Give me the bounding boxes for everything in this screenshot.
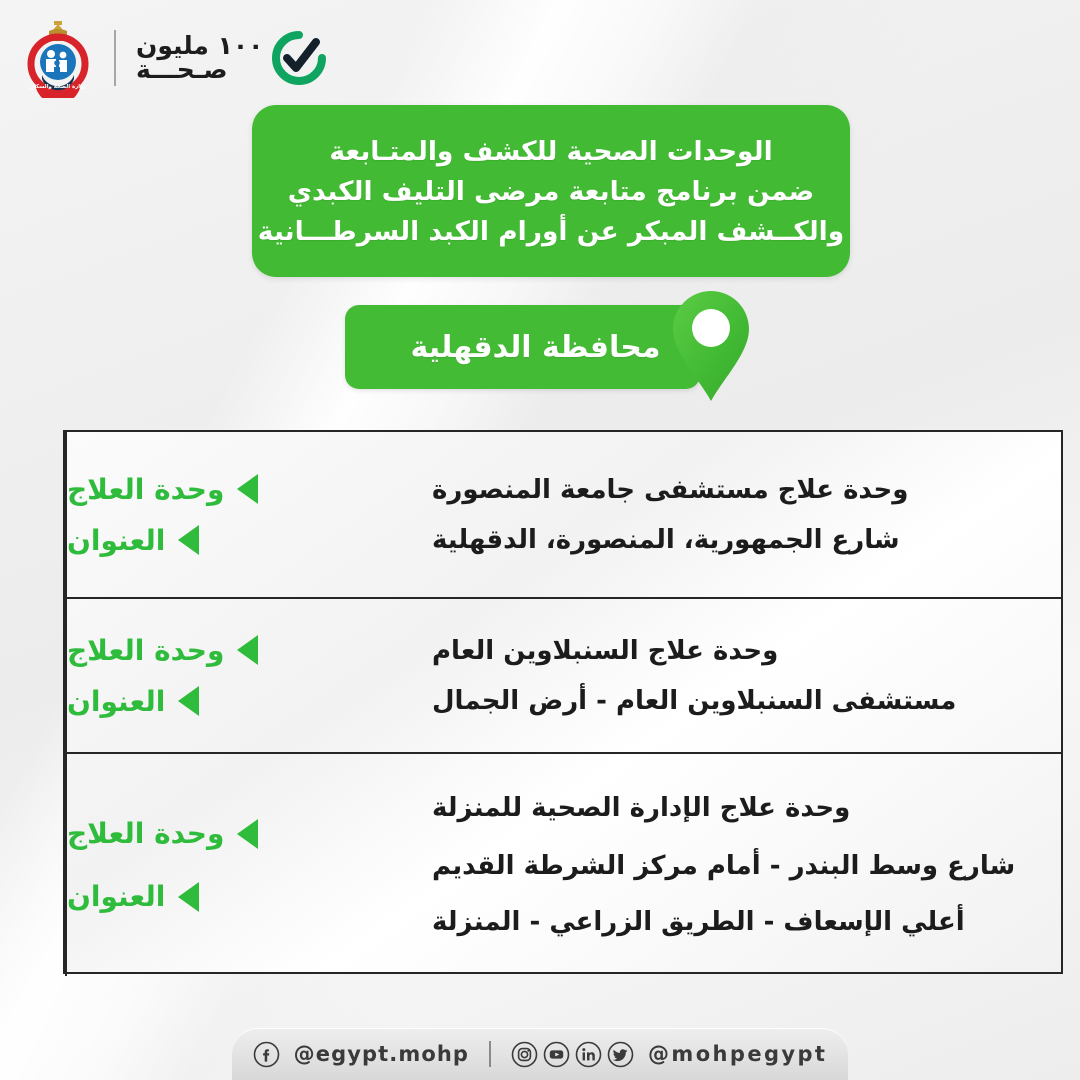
youtube-icon[interactable]: [543, 1041, 570, 1068]
governorate-name: محافظة الدقهلية: [385, 330, 661, 365]
ministry-of-health-logo: وزارة الصحة والسكان: [22, 18, 94, 98]
address-label: العنوان: [67, 880, 165, 913]
unit-label: وحدة العلاج: [67, 817, 224, 850]
instagram-icon[interactable]: [511, 1041, 538, 1068]
infographic-page: وزارة الصحة والسكان ١٠٠ مليون صـحـــة ال…: [0, 0, 1080, 1080]
row-labels-cell: وحدة العلاج العنوان: [65, 599, 410, 752]
social-icon-group: [511, 1041, 634, 1068]
address-value-line-1: شارع وسط البندر - أمام مركز الشرطة القدي…: [432, 851, 1015, 881]
governorate-pill: محافظة الدقهلية: [345, 305, 700, 389]
row-values-cell: وحدة علاج الإدارة الصحية للمنزلة شارع وس…: [410, 754, 1061, 976]
row-values-cell: وحدة علاج مستشفى جامعة المنصورة شارع الج…: [410, 432, 1061, 597]
address-label-row: العنوان: [67, 880, 199, 913]
address-value: مستشفى السنبلاوين العام - أرض الجمال: [432, 686, 956, 716]
unit-label: وحدة العلاج: [67, 634, 224, 667]
address-label-row: العنوان: [67, 685, 199, 718]
triangle-bullet-icon: [178, 686, 199, 716]
title-banner: الوحدات الصحية للكشف والمتـابعة ضمن برنا…: [252, 105, 850, 277]
unit-value: وحدة علاج السنبلاوين العام: [432, 636, 778, 666]
twitter-icon[interactable]: [607, 1041, 634, 1068]
unit-label-row: وحدة العلاج: [67, 634, 258, 667]
row-labels-cell: وحدة العلاج العنوان: [65, 754, 410, 976]
triangle-bullet-icon: [237, 819, 258, 849]
unit-value: وحدة علاج مستشفى جامعة المنصورة: [432, 475, 908, 505]
table-row: وحدة العلاج العنوان وحدة علاج مستشفى جام…: [65, 432, 1061, 599]
svg-text:وزارة الصحة والسكان: وزارة الصحة والسكان: [29, 83, 86, 90]
unit-label-row: وحدة العلاج: [67, 473, 258, 506]
title-line-2: ضمن برنامج متابعة مرضى التليف الكبدي: [288, 176, 815, 207]
unit-label: وحدة العلاج: [67, 473, 224, 506]
table-row: وحدة العلاج العنوان وحدة علاج الإدارة ال…: [65, 754, 1061, 976]
row-values-cell: وحدة علاج السنبلاوين العام مستشفى السنبل…: [410, 599, 1061, 752]
logo-divider: [114, 30, 116, 86]
unit-label-row: وحدة العلاج: [67, 817, 258, 850]
campaign-logo-100-million-health: ١٠٠ مليون صـحـــة: [136, 30, 327, 86]
linkedin-icon[interactable]: [575, 1041, 602, 1068]
facebook-handle[interactable]: @egypt.mohp: [294, 1042, 469, 1066]
address-label-row: العنوان: [67, 524, 199, 557]
title-line-1: الوحدات الصحية للكشف والمتـابعة: [329, 136, 772, 167]
governorate-banner: محافظة الدقهلية: [345, 305, 700, 389]
title-line-3: والكــشف المبكر عن أورام الكبد السرطـــا…: [258, 216, 844, 247]
table-row: وحدة العلاج العنوان وحدة علاج السنبلاوين…: [65, 599, 1061, 754]
address-value-line-2: أعلي الإسعاف - الطريق الزراعي - المنزلة: [432, 907, 965, 937]
triangle-bullet-icon: [237, 635, 258, 665]
treatment-units-table: وحدة العلاج العنوان وحدة علاج مستشفى جام…: [63, 430, 1063, 974]
facebook-icon[interactable]: [253, 1041, 280, 1068]
unit-value: وحدة علاج الإدارة الصحية للمنزلة: [432, 793, 850, 823]
campaign-line-2: صـحـــة: [136, 58, 228, 82]
address-label: العنوان: [67, 685, 165, 718]
social-footer-bar: @egypt.mohp: [232, 1028, 848, 1080]
map-pin-icon: [665, 287, 757, 405]
check-circle-icon: [271, 30, 327, 86]
footer-divider: [489, 1041, 491, 1067]
address-value-block: شارع وسط البندر - أمام مركز الشرطة القدي…: [432, 851, 1015, 937]
triangle-bullet-icon: [178, 525, 199, 555]
row-labels-cell: وحدة العلاج العنوان: [65, 432, 410, 597]
address-value: شارع الجمهورية، المنصورة، الدقهلية: [432, 525, 900, 555]
triangle-bullet-icon: [237, 474, 258, 504]
shared-social-handle[interactable]: @mohpegypt: [648, 1042, 827, 1066]
brand-header: وزارة الصحة والسكان ١٠٠ مليون صـحـــة: [22, 18, 327, 98]
address-label: العنوان: [67, 524, 165, 557]
triangle-bullet-icon: [178, 882, 199, 912]
